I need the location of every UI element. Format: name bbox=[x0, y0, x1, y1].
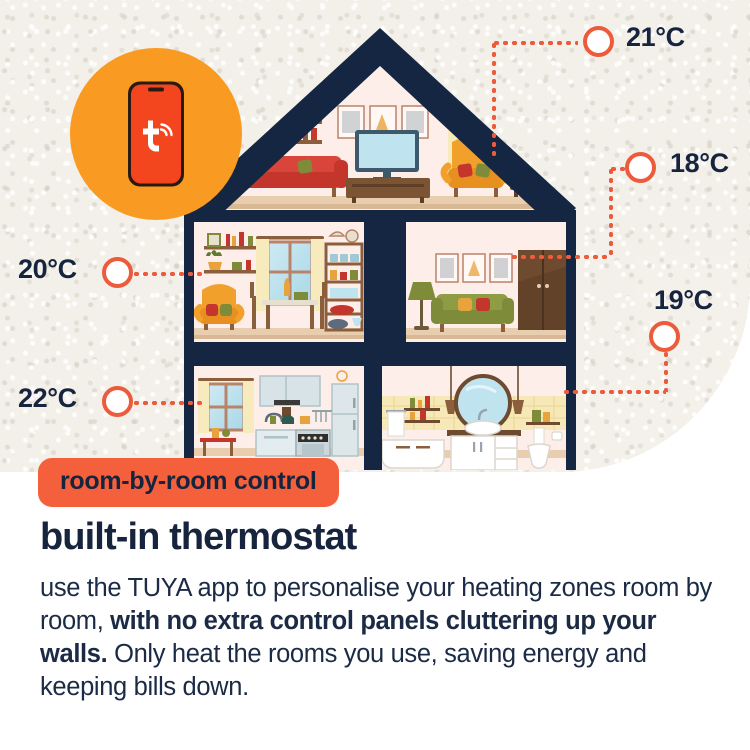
connector-line-21c-vertical bbox=[492, 41, 496, 159]
temperature-label-22c: 22°C bbox=[18, 383, 77, 414]
connector-line-20c-horizontal bbox=[132, 272, 202, 276]
house-cutaway-illustration bbox=[170, 18, 590, 470]
connector-line-22c-horizontal bbox=[132, 401, 202, 405]
connector-line-19c-horizontal bbox=[562, 390, 666, 394]
temperature-marker-22c[interactable] bbox=[102, 386, 133, 417]
phone-notch bbox=[148, 88, 164, 92]
phone-screen bbox=[131, 85, 181, 184]
feature-badge: room-by-room control bbox=[38, 458, 339, 507]
body-copy: use the TUYA app to personalise your hea… bbox=[40, 572, 730, 704]
connector-line-18c-horizontal-bottom bbox=[510, 255, 611, 259]
tuya-t-logo-icon bbox=[136, 118, 176, 154]
infographic-page: 21°C 18°C 19°C 20°C 22°C room-by-room co… bbox=[0, 0, 750, 750]
temperature-label-21c: 21°C bbox=[626, 22, 685, 53]
temperature-marker-20c[interactable] bbox=[102, 257, 133, 288]
temperature-label-18c: 18°C bbox=[670, 148, 729, 179]
connector-line-21c-horizontal bbox=[492, 41, 578, 45]
connector-line-18c-vertical bbox=[609, 167, 613, 257]
temperature-label-19c: 19°C bbox=[654, 285, 713, 316]
temperature-label-20c: 20°C bbox=[18, 254, 77, 285]
page-title: built-in thermostat bbox=[40, 516, 356, 559]
temperature-marker-18c[interactable] bbox=[625, 152, 656, 183]
temperature-marker-19c[interactable] bbox=[649, 321, 680, 352]
connector-line-19c-vertical bbox=[664, 350, 668, 392]
tuya-app-badge[interactable] bbox=[70, 48, 242, 220]
phone-icon bbox=[128, 82, 184, 187]
temperature-marker-21c[interactable] bbox=[583, 26, 614, 57]
body-part2: Only heat the rooms you use, saving ener… bbox=[40, 640, 647, 701]
